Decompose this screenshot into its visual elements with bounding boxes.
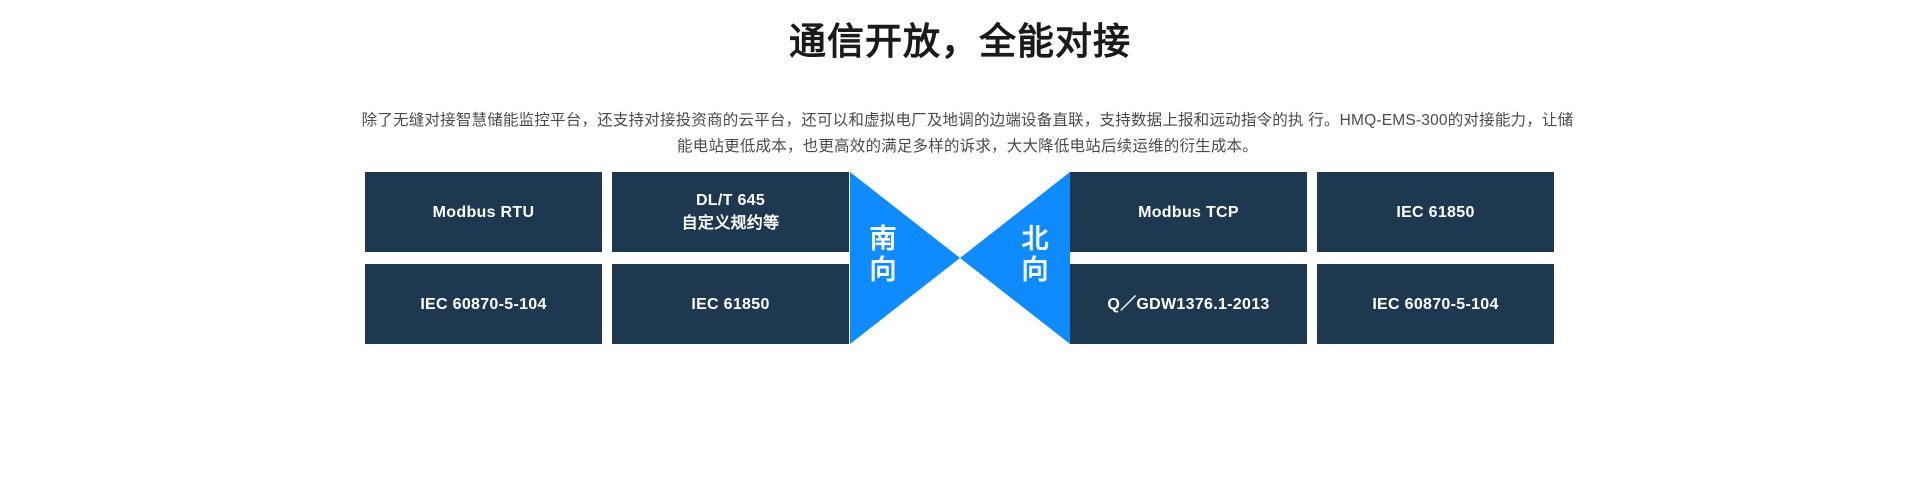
protocol-box-iec60870-5-104-south[interactable]: IEC 60870-5-104 <box>365 264 602 344</box>
protocol-label: Q／GDW1376.1-2013 <box>1107 293 1269 316</box>
southbound-bottom-row: IEC 60870-5-104 IEC 61850 <box>365 264 850 344</box>
northbound-char-2: 向 <box>1020 255 1050 286</box>
protocol-label: IEC 61850 <box>691 293 769 316</box>
northbound-char-1: 北 <box>1020 224 1050 255</box>
northbound-bottom-row: Q／GDW1376.1-2013 IEC 60870-5-104 <box>1070 264 1555 344</box>
direction-arrows: 南 向 北 向 <box>850 172 1070 344</box>
protocol-label-line-1: DL/T 645 <box>696 192 765 209</box>
protocol-box-dlt645[interactable]: DL/T 645 自定义规约等 <box>612 172 849 252</box>
protocol-label: Modbus RTU <box>433 201 535 224</box>
section-title: 通信开放，全能对接 <box>0 18 1920 66</box>
southbound-arrow-icon: 南 向 <box>850 172 960 344</box>
northbound-protocol-group: Modbus TCP IEC 61850 Q／GDW1376.1-2013 IE… <box>1070 172 1555 344</box>
protocol-box-modbus-rtu[interactable]: Modbus RTU <box>365 172 602 252</box>
southbound-top-row: Modbus RTU DL/T 645 自定义规约等 <box>365 172 850 252</box>
southbound-char-2: 向 <box>868 255 898 286</box>
protocol-box-iec61850-south[interactable]: IEC 61850 <box>612 264 849 344</box>
northbound-arrow-icon: 北 向 <box>960 172 1070 344</box>
section-description: 除了无缝对接智慧储能监控平台，还支持对接投资商的云平台，还可以和虚拟电厂及地调的… <box>360 108 1575 160</box>
protocol-label: Modbus TCP <box>1138 201 1239 224</box>
protocol-label: IEC 61850 <box>1396 201 1474 224</box>
protocol-box-iec61850-north[interactable]: IEC 61850 <box>1317 172 1554 252</box>
communication-openness-section: 通信开放，全能对接 除了无缝对接智慧储能监控平台，还支持对接投资商的云平台，还可… <box>0 0 1920 486</box>
protocol-label-line-2: 自定义规约等 <box>682 212 780 235</box>
protocol-label: IEC 60870-5-104 <box>1372 293 1498 316</box>
southbound-char-1: 南 <box>868 224 898 255</box>
protocol-diagram: Modbus RTU DL/T 645 自定义规约等 IEC 60870-5-1… <box>365 172 1555 344</box>
protocol-box-q-gdw1376[interactable]: Q／GDW1376.1-2013 <box>1070 264 1307 344</box>
description-line-1: 除了无缝对接智慧储能监控平台，还支持对接投资商的云平台，还可以和虚拟电厂及地调的… <box>362 112 1304 129</box>
protocol-label: IEC 60870-5-104 <box>420 293 546 316</box>
protocol-label: DL/T 645 自定义规约等 <box>682 189 780 235</box>
southbound-arrow-label: 南 向 <box>868 224 898 286</box>
protocol-box-modbus-tcp[interactable]: Modbus TCP <box>1070 172 1307 252</box>
northbound-arrow-label: 北 向 <box>1020 224 1050 286</box>
protocol-box-iec60870-5-104-north[interactable]: IEC 60870-5-104 <box>1317 264 1554 344</box>
southbound-protocol-group: Modbus RTU DL/T 645 自定义规约等 IEC 60870-5-1… <box>365 172 850 344</box>
northbound-top-row: Modbus TCP IEC 61850 <box>1070 172 1555 252</box>
